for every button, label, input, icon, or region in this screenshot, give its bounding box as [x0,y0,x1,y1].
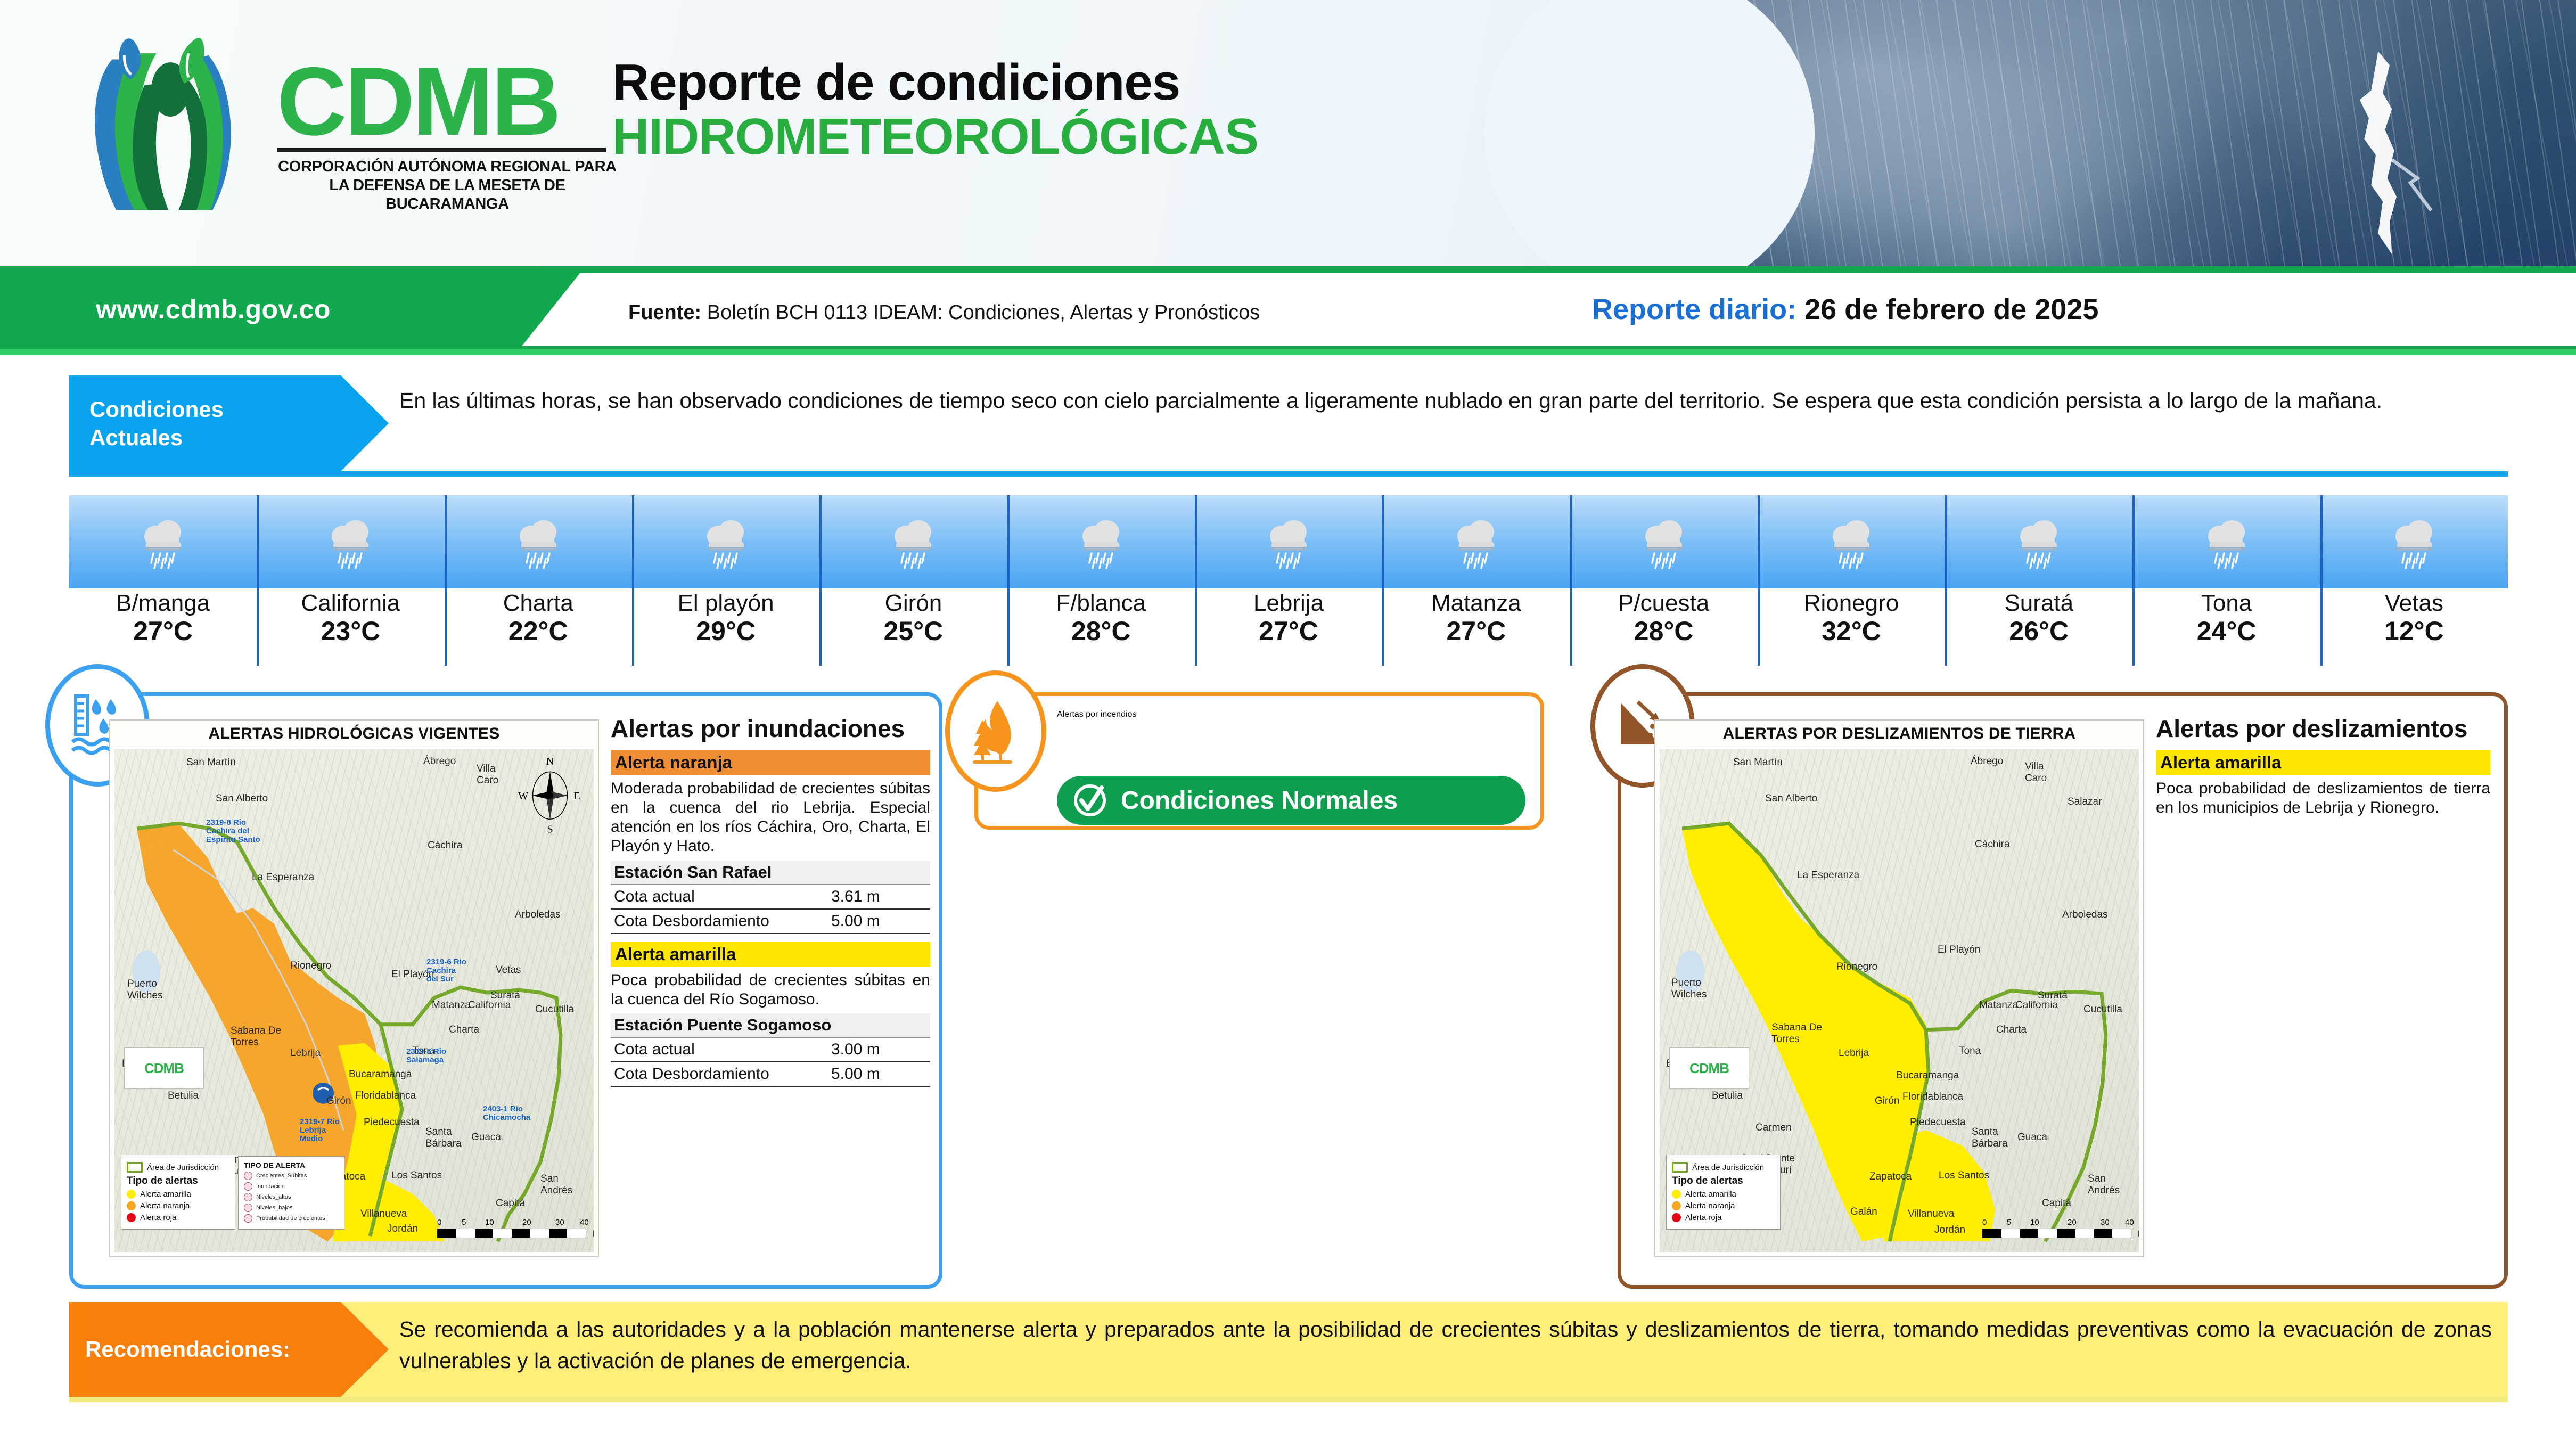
weather-cell: F/blanca28°C [1007,495,1195,666]
scale-tick: 10 [485,1218,494,1227]
city-temperature: 29°C [696,616,756,646]
niveles-bajos-symbol-icon [244,1204,252,1212]
legend-type-red-label: Alerta roja [140,1213,176,1222]
city-temperature: 27°C [133,616,193,646]
flood-map-title: ALERTAS HIDROLÓGICAS VIGENTES [110,725,598,743]
flood-station-puente-sogamoso: Estación Puente Sogamoso [611,1013,930,1038]
city-name: Matanza [1431,591,1521,616]
scale-tick: 30 [555,1218,564,1227]
scale-tick: 5 [462,1218,466,1227]
scale-bar-blocks [1982,1229,2131,1238]
niveles-altos-symbol-icon [244,1193,252,1201]
weather-cell: Tona24°C [2132,495,2320,666]
alert-type-label: Probabilidad de crecientes [256,1215,325,1222]
rain-cloud-icon [1450,513,1502,571]
info-bar: www.cdmb.gov.co Fuente: Boletín BCH 0113… [0,266,2576,354]
fire-badge [945,670,1046,792]
compass-rose-icon: N S E W [518,755,582,834]
weather-label-box: Tona24°C [2132,588,2320,666]
landslide-map[interactable]: ALERTAS POR DESLIZAMIENTOS DE TIERRA San… [1654,719,2144,1257]
legend-type-red: Alerta roja [127,1213,229,1222]
weather-icon-box [1945,495,2132,588]
weather-icon-box [1007,495,1195,588]
legend-type-yellow-label: Alerta amarilla [1685,1190,1736,1199]
weather-cell: Rionegro32°C [1758,495,1945,666]
scale-tick: 20 [2068,1218,2077,1227]
weather-cell: El playón29°C [632,495,819,666]
landslide-alert-panel: ALERTAS POR DESLIZAMIENTOS DE TIERRA San… [1618,692,2508,1289]
svg-text:S: S [547,823,553,834]
city-name: Lebrija [1253,591,1324,616]
scale-tick: 0 [1982,1218,1987,1227]
weather-icon-box [445,495,632,588]
check-circle-icon [1071,781,1109,820]
weather-icon-box [819,495,1007,588]
rain-cloud-icon [2201,513,2252,571]
flood-panel-heading: Alertas por inundaciones [611,715,930,742]
scale-bar-blocks [437,1229,586,1238]
probabilidad-crecientes-symbol-icon [244,1214,252,1223]
weather-label-box: Rionegro32°C [1758,588,1945,666]
table-row: Cota Desbordamiento 5.00 m [611,910,930,934]
city-name: Tona [2201,591,2252,616]
scale-tick: 20 [522,1218,531,1227]
city-temperature: 24°C [2197,616,2257,646]
flood-alert-level-yellow: Alerta amarilla [611,942,930,967]
flood-alert-body-orange: Moderada probabilidad de crecientes súbi… [611,779,930,856]
storm-photo [1692,0,2576,266]
lightning-bolt-icon [2321,49,2444,257]
map-cdmb-watermark-text: CDMB [1689,1060,1729,1077]
scale-tick: 40 [580,1218,589,1227]
weather-icon-box [1382,495,1570,588]
legend-type-orange: Alerta naranja [1672,1201,1775,1210]
page-title: Reporte de condiciones HIDROMETEOROLÓGIC… [612,56,1258,165]
legend-types-title: Tipo de alertas [1672,1175,1775,1187]
landslide-alert-level: Alerta amarilla [2156,750,2490,775]
city-temperature: 28°C [1071,616,1131,646]
legend-types-title: Tipo de alertas [127,1175,229,1187]
rain-cloud-icon [1826,513,1877,571]
city-temperature: 23°C [321,616,381,646]
table-row: Cota actual 3.61 m [611,885,930,910]
city-name: Suratá [2004,591,2073,616]
city-name: El playón [678,591,774,616]
logo-acronym: CDMB [277,60,618,143]
current-conditions-section: Condiciones Actuales En las últimas hora… [69,375,2508,471]
city-name: B/manga [116,591,210,616]
rain-cloud-icon [2389,513,2440,571]
city-name: P/cuesta [1618,591,1709,616]
alert-type-item: Niveles_altos [244,1193,339,1201]
row-value: 5.00 m [831,1065,927,1083]
weather-label-box: Suratá26°C [1945,588,2132,666]
rain-cloud-icon [137,513,188,571]
row-value: 5.00 m [831,912,927,930]
landslide-map-canvas: San Martín San Alberto Ábrego VillaCaro … [1660,749,2139,1252]
scale-unit: Km [593,1230,594,1239]
flood-map-alert-type-legend: TIPO DE ALERTA Crecientes_Súbitas Inunda… [238,1156,344,1230]
fire-panel-heading: Alertas por incendios [1057,710,1136,719]
red-dot-icon [127,1213,136,1222]
city-temperature: 32°C [1822,616,1881,646]
row-label: Cota actual [614,1041,695,1059]
landslide-map-legend: Área de Jurisdicción Tipo de alertas Ale… [1666,1155,1781,1230]
yellow-dot-icon [127,1190,136,1199]
weather-label-box: Charta22°C [445,588,632,666]
alert-type-label: Niveles_bajos [256,1205,292,1211]
recommendations-underline [69,1397,2508,1402]
row-label: Cota Desbordamiento [614,1065,769,1083]
flood-map[interactable]: ALERTAS HIDROLÓGICAS VIGENTES [109,719,599,1257]
flood-map-legend: Área de Jurisdicción Tipo de alertas Ale… [121,1155,235,1230]
landslide-map-scale-bar: 0 5 10 20 30 40 Km [1982,1218,2131,1238]
legend-type-red-label: Alerta roja [1685,1213,1721,1222]
alert-type-label: Inundacion [256,1183,285,1190]
current-conditions-tag-line2: Actuales [89,424,389,452]
weather-label-box: Lebrija27°C [1195,588,1382,666]
cdmb-logo: CDMB CORPORACIÓN AUTÓNOMA REGIONAL PARA … [69,37,612,229]
legend-type-orange-label: Alerta naranja [1685,1201,1735,1210]
city-temperature: 25°C [884,616,944,646]
weather-icon-box [1758,495,1945,588]
legend-type-red: Alerta roja [1672,1213,1775,1222]
rain-cloud-icon [1076,513,1127,571]
flood-station-san-rafael: Estación San Rafael [611,861,930,885]
scale-tick: 30 [2101,1218,2110,1227]
current-conditions-underline [69,471,2508,477]
weather-icon-box [1195,495,1382,588]
landslide-panel-heading: Alertas por deslizamientos [2156,715,2490,742]
legend-jurisdiction-row: Área de Jurisdicción [127,1162,229,1173]
weather-label-box: Girón25°C [819,588,1007,666]
current-conditions-tag-line1: Condiciones [89,396,389,424]
table-row: Cota Desbordamiento 5.00 m [611,1062,930,1087]
scale-tick: 10 [2030,1218,2039,1227]
weather-label-box: Matanza27°C [1382,588,1570,666]
rain-cloud-icon [1638,513,1689,571]
rain-cloud-icon [888,513,939,571]
weather-icon-box [2132,495,2320,588]
jurisdiction-label: Área de Jurisdicción [147,1163,219,1172]
weather-icon-box [2320,495,2508,588]
weather-label-box: Vetas12°C [2320,588,2508,666]
legend-type-orange: Alerta naranja [127,1201,229,1210]
row-value: 3.61 m [831,888,927,906]
source-label: Fuente: [628,301,701,324]
red-dot-icon [1672,1213,1681,1222]
rain-cloud-icon [513,513,564,571]
alert-type-item: Probabilidad de crecientes [244,1214,339,1223]
weather-label-box: F/blanca28°C [1007,588,1195,666]
weather-cell: Matanza27°C [1382,495,1570,666]
map-cdmb-watermark: CDMB [1669,1047,1749,1089]
rain-cloud-icon [1263,513,1314,571]
title-line-1: Reporte de condiciones [612,56,1258,109]
alert-type-item: Inundacion [244,1182,339,1191]
crecientes-subitas-symbol-icon [244,1172,252,1180]
city-name: Charta [503,591,573,616]
weather-cell: Vetas12°C [2320,495,2508,666]
forest-fire-icon [966,697,1025,766]
weather-icon-box [632,495,819,588]
title-line-2: HIDROMETEOROLÓGICAS [612,109,1258,165]
landslide-alert-text-column: Alertas por deslizamientos Alerta amaril… [2156,715,2490,822]
landslide-alert-body: Poca probabilidad de deslizamientos de t… [2156,779,2490,818]
yellow-dot-icon [1672,1190,1681,1199]
inundacion-symbol-icon [244,1182,252,1191]
city-name: Girón [885,591,942,616]
alert-type-label: Crecientes_Súbitas [256,1173,307,1179]
weather-icon-box [257,495,444,588]
orange-dot-icon [127,1201,136,1210]
weather-label-box: P/cuesta28°C [1570,588,1758,666]
legend-type-yellow: Alerta amarilla [1672,1190,1775,1199]
fire-alert-panel: Alertas por incendios Condiciones Normal… [974,692,1544,830]
weather-icon-box [1570,495,1758,588]
row-label: Cota actual [614,888,695,906]
city-temperature: 27°C [1259,616,1318,646]
flood-map-scale-bar: 0 5 10 20 30 40 Km [437,1218,586,1238]
city-name: Vetas [2385,591,2443,616]
website-url[interactable]: www.cdmb.gov.co [96,294,331,325]
source-line: Fuente: Boletín BCH 0113 IDEAM: Condicio… [628,301,1260,324]
logo-subtitle: CORPORACIÓN AUTÓNOMA REGIONAL PARA LA DE… [277,158,618,214]
fire-status-badge[interactable]: Condiciones Normales [1057,776,1525,825]
weather-cell: P/cuesta28°C [1570,495,1758,666]
row-value: 3.00 m [831,1041,927,1059]
flood-alert-panel: ALERTAS HIDROLÓGICAS VIGENTES [69,692,942,1289]
page-header: CDMB CORPORACIÓN AUTÓNOMA REGIONAL PARA … [0,0,2576,266]
rain-cloud-icon [2013,513,2064,571]
flood-alert-text-column: Alertas por inundaciones Alerta naranja … [611,715,930,1087]
weather-cell: Girón25°C [819,495,1007,666]
report-date-line: Reporte diario: 26 de febrero de 2025 [1592,293,2098,326]
svg-text:W: W [518,790,529,802]
recommendations-section: Se recomienda a las autoridades y a la p… [69,1302,2508,1397]
jurisdiction-label: Área de Jurisdicción [1692,1163,1764,1172]
city-temperature: 26°C [2009,616,2069,646]
alert-type-item: Crecientes_Súbitas [244,1172,339,1180]
alert-type-item: Niveles_bajos [244,1204,339,1212]
jurisdiction-swatch [127,1162,143,1173]
recommendations-tag: Recomendaciones: [69,1302,389,1397]
map-cdmb-watermark: CDMB [124,1047,204,1089]
orange-dot-icon [1672,1201,1681,1210]
scale-tick-labels: 0 5 10 20 30 40 [437,1218,586,1229]
info-bar-underline [0,349,2576,355]
city-name: F/blanca [1056,591,1146,616]
legend-jurisdiction-row: Área de Jurisdicción [1672,1162,1775,1173]
weather-strip: B/manga27°CCalifornia23°CCharta22°CEl pl… [69,495,2508,666]
weather-label-box: El playón29°C [632,588,819,666]
scale-tick: 5 [2007,1218,2011,1227]
row-label: Cota Desbordamiento [614,912,769,930]
scale-tick: 40 [2125,1218,2134,1227]
map-cdmb-watermark-text: CDMB [144,1060,184,1077]
rain-cloud-icon [700,513,751,571]
scale-unit: Km [2138,1230,2139,1239]
cdmb-logo-mark-icon [69,37,272,213]
jurisdiction-swatch [1672,1162,1688,1173]
legend-type-yellow-label: Alerta amarilla [140,1190,191,1199]
alert-panels-row: ALERTAS HIDROLÓGICAS VIGENTES [69,677,2508,1290]
city-temperature: 27°C [1446,616,1506,646]
city-temperature: 12°C [2384,616,2444,646]
rain-cloud-icon [325,513,376,571]
weather-cell: Lebrija27°C [1195,495,1382,666]
city-name: California [301,591,400,616]
weather-cell: Charta22°C [445,495,632,666]
landslide-map-title: ALERTAS POR DESLIZAMIENTOS DE TIERRA [1655,725,2143,743]
table-row: Cota actual 3.00 m [611,1038,930,1062]
svg-text:N: N [546,756,554,767]
svg-text:E: E [573,790,580,802]
legend-type-yellow: Alerta amarilla [127,1190,229,1199]
report-date-value: 26 de febrero de 2025 [1804,293,2098,325]
recommendations-text: Se recomienda a las autoridades y a la p… [341,1302,2508,1397]
report-page: CDMB CORPORACIÓN AUTÓNOMA REGIONAL PARA … [0,0,2576,1449]
scale-tick-labels: 0 5 10 20 30 40 [1982,1218,2131,1229]
flood-map-canvas: San Martín San Alberto Ábrego VillaCaro … [114,749,594,1252]
weather-cell: B/manga27°C [69,495,257,666]
weather-icon-box [69,495,257,588]
scale-tick: 0 [437,1218,441,1227]
flood-alert-body-yellow: Poca probabilidad de crecientes súbitas … [611,971,930,1010]
city-temperature: 28°C [1634,616,1694,646]
weather-cell: Suratá26°C [1945,495,2132,666]
legend-type-orange-label: Alerta naranja [140,1201,190,1210]
weather-label-box: B/manga27°C [69,588,257,666]
source-text: Boletín BCH 0113 IDEAM: Condiciones, Ale… [707,301,1260,324]
weather-cell: California23°C [257,495,444,666]
city-temperature: 22°C [508,616,568,646]
alert-type-label: Niveles_altos [256,1194,291,1200]
current-conditions-text: En las últimas horas, se han observado c… [399,375,2508,471]
fire-status-label: Condiciones Normales [1121,786,1398,815]
current-conditions-tag: Condiciones Actuales [69,375,389,471]
report-date-label: Reporte diario: [1592,293,1796,325]
weather-label-box: California23°C [257,588,444,666]
city-name: Rionegro [1804,591,1899,616]
alert-type-legend-title: TIPO DE ALERTA [244,1161,339,1169]
flood-alert-level-orange: Alerta naranja [611,750,930,775]
